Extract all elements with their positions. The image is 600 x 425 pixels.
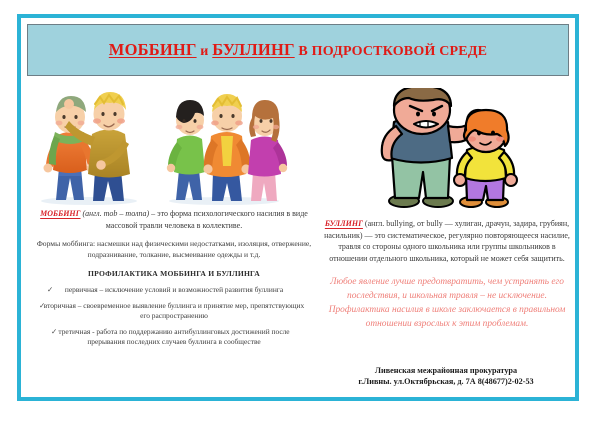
list-item: ✓ вторичная – своевременное выявление бу… xyxy=(29,301,319,322)
check-icon: ✓ xyxy=(39,301,45,312)
list-item-label: вторичная – своевременное выявление булл… xyxy=(44,301,304,321)
figure-small-victim xyxy=(454,110,517,207)
title-conjunction: и xyxy=(197,44,213,59)
check-icon: ✓ xyxy=(51,327,57,338)
list-item-label: третичная - работа по поддержанию антибу… xyxy=(58,327,289,347)
poster-title-bar: МОББИНГ и БУЛЛИНГ В ПОДРОСТКОВОЙ СРЕДЕ xyxy=(27,24,569,76)
mobbing-term: МОББИНГ xyxy=(40,209,80,218)
figure-victim-left xyxy=(44,96,96,200)
left-illustration xyxy=(29,84,329,209)
footer-address-phone: г.Ливны. ул.Октябрьская, д. 7А 8(48677)2… xyxy=(321,377,571,388)
check-icon: ✓ xyxy=(47,285,53,296)
mobbing-definition: МОББИНГ (англ. mob – толпа) – это форма … xyxy=(29,208,319,231)
left-text-column: МОББИНГ (англ. mob – толпа) – это форма … xyxy=(29,208,319,353)
bullying-definition: БУЛЛИНГ (англ. bullying, от bully — хули… xyxy=(321,218,573,264)
mobbing-forms: Формы моббинга: насмешки над физическими… xyxy=(29,238,319,260)
list-item: ✓ третичная - работа по поддержанию анти… xyxy=(29,327,319,348)
poster-frame: МОББИНГ и БУЛЛИНГ В ПОДРОСТКОВОЙ СРЕДЕ xyxy=(17,14,579,401)
figure-onlooker-orange xyxy=(203,94,250,201)
right-illustration xyxy=(366,88,566,210)
page-title: МОББИНГ и БУЛЛИНГ В ПОДРОСТКОВОЙ СРЕДЕ xyxy=(109,40,487,60)
right-text-column: БУЛЛИНГ (англ. bullying, от bully — хули… xyxy=(321,218,573,331)
prevention-heading: ПРОФИЛАКТИКА МОББИНГА И БУЛЛИНГА xyxy=(29,269,319,278)
list-item: ✓ первичная – исключение условий и возмо… xyxy=(29,285,319,296)
bullying-term: БУЛЛИНГ xyxy=(325,219,363,228)
figure-onlooker-green xyxy=(167,100,205,200)
title-term-bullying: БУЛЛИНГ xyxy=(212,40,294,59)
mobbing-etymology: (англ. mob – толпа) xyxy=(81,209,150,218)
title-term-mobbing: МОББИНГ xyxy=(109,40,197,59)
closing-quote: Любое явление лучше предотвратить, чем у… xyxy=(321,275,573,331)
prevention-list: ✓ первичная – исключение условий и возмо… xyxy=(29,285,319,348)
footer-contact: Ливенская межрайонная прокуратура г.Ливн… xyxy=(321,366,571,387)
footer-organization: Ливенская межрайонная прокуратура xyxy=(321,366,571,377)
figure-onlooker-girl xyxy=(248,100,287,201)
list-item-label: первичная – исключение условий и возможн… xyxy=(65,285,283,294)
title-suffix: В ПОДРОСТКОВОЙ СРЕДЕ xyxy=(295,44,488,59)
